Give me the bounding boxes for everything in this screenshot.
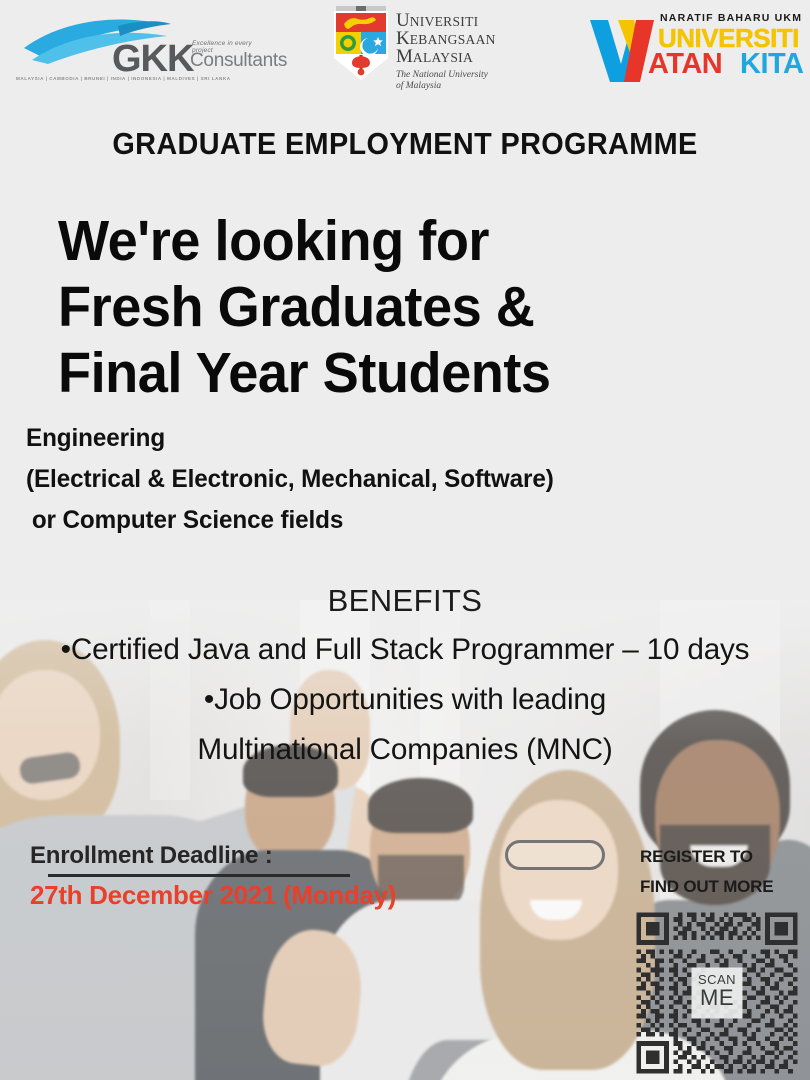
eligible-fields: Engineering (Electrical & Electronic, Me… bbox=[26, 418, 773, 541]
register-line-2: FIND OUT MORE bbox=[640, 872, 810, 902]
benefits-list: •Certified Java and Full Stack Programme… bbox=[0, 625, 810, 775]
benefits-heading: BENEFITS bbox=[0, 583, 810, 619]
poster-canvas: GKK Excellence in every project Consulta… bbox=[0, 0, 810, 1080]
field-line-3: or Computer Science fields bbox=[32, 500, 773, 541]
gkk-country-list: MALAYSIA | CAMBODIA | BRUNEI | INDIA | I… bbox=[16, 76, 231, 81]
watan-kita-kita: KITA bbox=[740, 50, 804, 79]
headline-line-2: Fresh Graduates & bbox=[58, 274, 723, 340]
watan-kita-atan: ATAN bbox=[648, 50, 722, 79]
gkk-subword: Consultants bbox=[190, 50, 287, 72]
benefit-item-1: •Certified Java and Full Stack Programme… bbox=[4, 625, 806, 675]
field-line-2: (Electrical & Electronic, Mechanical, So… bbox=[26, 459, 773, 500]
gkk-logo: GKK Excellence in every project Consulta… bbox=[14, 14, 262, 86]
qr-scan-me-label: SCAN ME bbox=[698, 973, 736, 1009]
ukm-line-1: UNIVERSITI bbox=[396, 12, 496, 30]
gkk-wordmark: GKK bbox=[112, 40, 193, 78]
register-line-1: REGISTER TO bbox=[640, 842, 810, 872]
ukm-logo: UNIVERSITI KEBANGSAAN MALAYSIA The Natio… bbox=[330, 4, 530, 90]
deadline-block: Enrollment Deadline : 27th December 2021… bbox=[30, 842, 480, 911]
register-callout: REGISTER TO FIND OUT MORE bbox=[640, 842, 810, 902]
headline-line-3: Final Year Students bbox=[58, 340, 723, 406]
logo-bar: GKK Excellence in every project Consulta… bbox=[0, 0, 810, 100]
benefit-item-3: Multinational Companies (MNC) bbox=[4, 725, 806, 775]
field-line-1: Engineering bbox=[26, 418, 773, 459]
ukm-subtitle-line-2: of Malaysia bbox=[396, 81, 496, 92]
watan-kita-logo: NARATIF BAHARU UKM UNIVERSITI ATAN KITA bbox=[588, 10, 800, 84]
ukm-line-3: MALAYSIA bbox=[396, 48, 496, 66]
headline: We're looking for Fresh Graduates & Fina… bbox=[58, 208, 723, 406]
headline-line-1: We're looking for bbox=[58, 208, 723, 274]
deadline-date: 27th December 2021 (Monday) bbox=[30, 880, 480, 911]
deadline-label: Enrollment Deadline : bbox=[30, 842, 480, 870]
ukm-subtitle-line-1: The National University bbox=[396, 70, 496, 81]
qr-code[interactable]: SCAN ME bbox=[632, 908, 802, 1073]
programme-title: GRADUATE EMPLOYMENT PROGRAMME bbox=[28, 126, 781, 162]
deadline-underline bbox=[48, 874, 350, 877]
qr-me-text: ME bbox=[698, 987, 736, 1009]
ukm-wordmark: UNIVERSITI KEBANGSAAN MALAYSIA The Natio… bbox=[396, 12, 496, 92]
benefit-item-2: •Job Opportunities with leading bbox=[4, 675, 806, 725]
ukm-crest-icon bbox=[330, 6, 392, 84]
